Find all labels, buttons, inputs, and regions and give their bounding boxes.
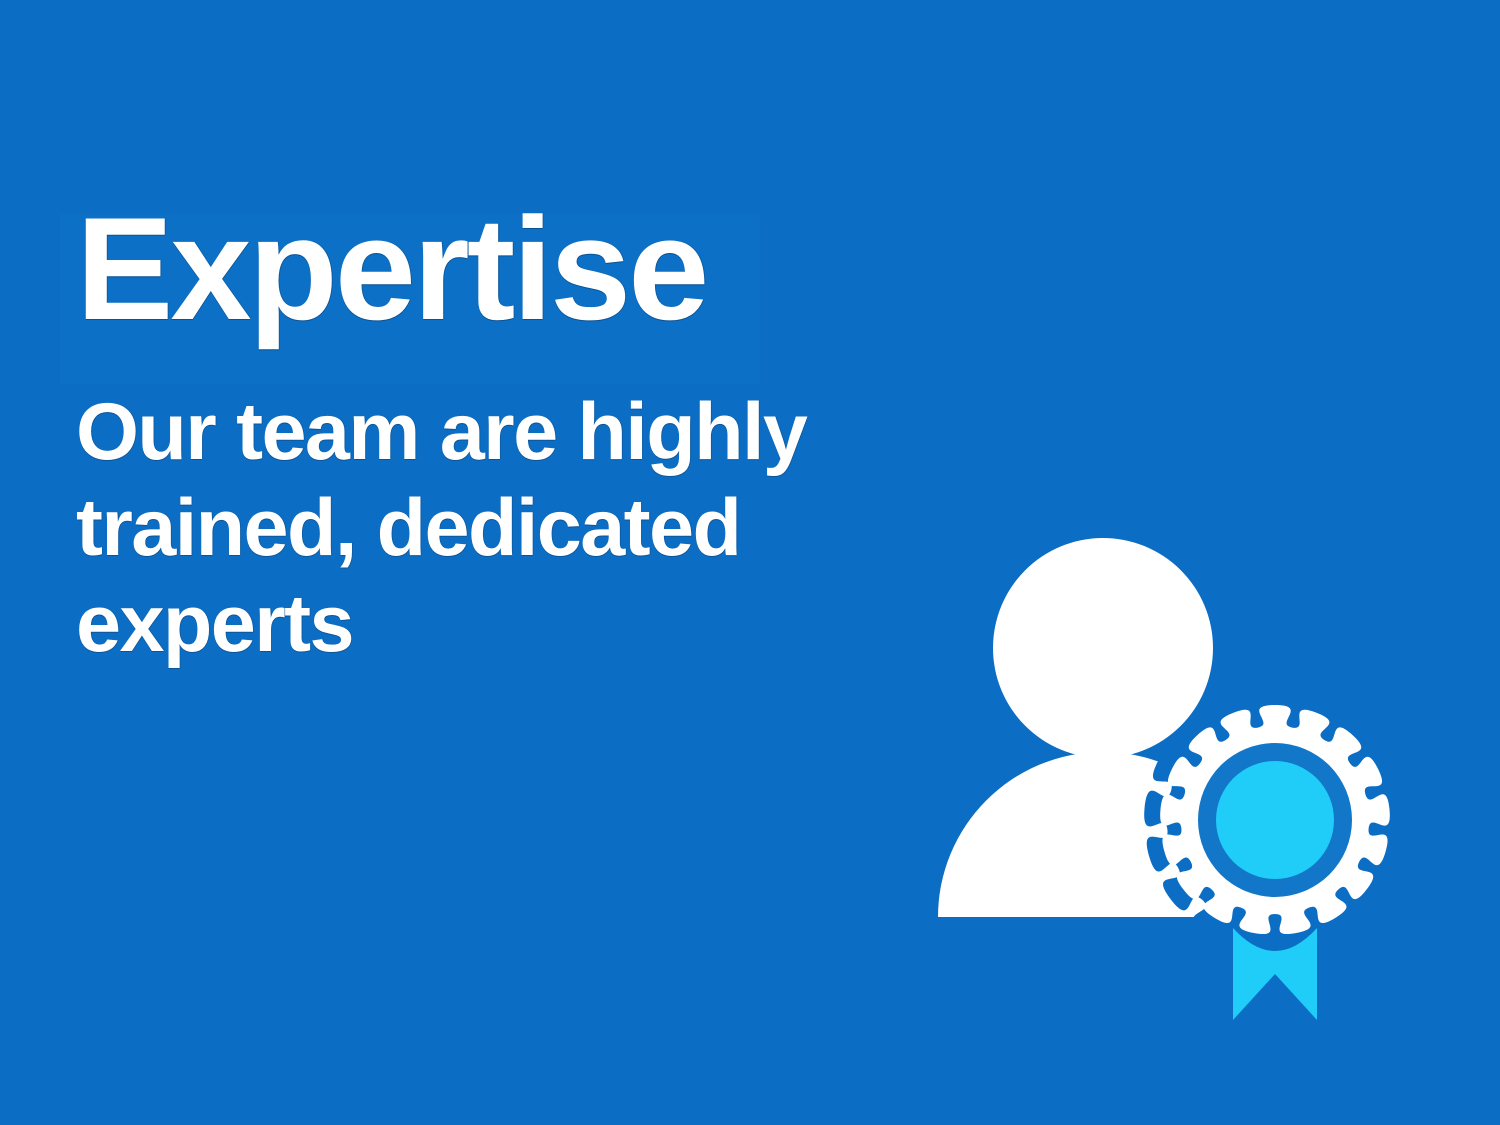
award-rosette-badge [1160,705,1390,1020]
subtitle-line-1: Our team are highly [76,384,936,480]
subtitle-line-2: trained, dedicated [76,480,936,576]
slide-canvas: Expertise Our team are highly trained, d… [0,0,1500,1125]
page-title: Expertise [76,196,936,342]
subtitle-line-3: experts [76,576,936,672]
text-block: Expertise Our team are highly trained, d… [76,196,936,672]
badge-ribbon [1233,928,1317,1020]
badge-center [1216,761,1334,879]
certified-person-icon [905,505,1425,1045]
subtitle: Our team are highly trained, dedicated e… [76,384,936,672]
certified-person-glyph [905,505,1425,1045]
